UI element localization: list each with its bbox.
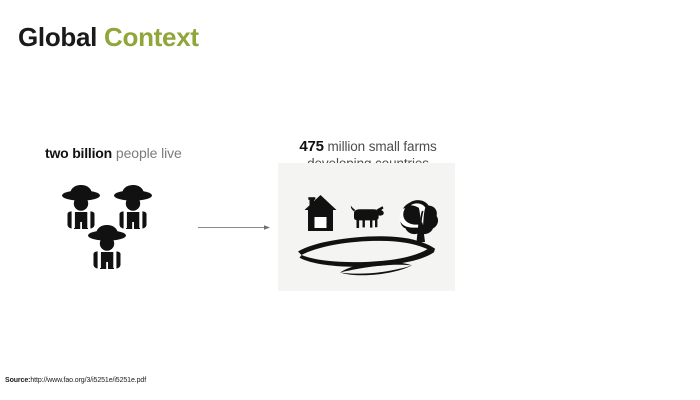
source-label: Source: <box>5 377 30 384</box>
left-caption-strong: two billion <box>45 145 112 161</box>
right-caption-number: 475 <box>299 138 323 155</box>
farmer-icon <box>85 224 129 274</box>
slide-canvas: Global Context two billion people live <box>0 0 700 400</box>
page-title: Global Context <box>18 24 199 50</box>
right-arrow-icon <box>198 222 270 233</box>
house-shape <box>305 195 337 231</box>
source-footer: Source:http://www.fao.org/3/i5251e/i5251… <box>5 377 146 384</box>
source-url[interactable]: http://www.fao.org/3/i5251e/i5251e.pdf <box>30 377 146 384</box>
farm-scene-icon <box>292 185 442 277</box>
right-caption-line1: million small farms <box>328 139 437 154</box>
cow-shape <box>351 206 384 228</box>
left-caption-light: people live <box>116 145 182 161</box>
page-title-dark: Global <box>18 22 97 52</box>
page-title-accent: Context <box>104 22 199 52</box>
farm-image-panel <box>278 163 455 291</box>
farmer-group-icon <box>55 182 165 278</box>
tree-shape <box>400 200 438 242</box>
left-caption: two billion people live <box>45 145 182 162</box>
